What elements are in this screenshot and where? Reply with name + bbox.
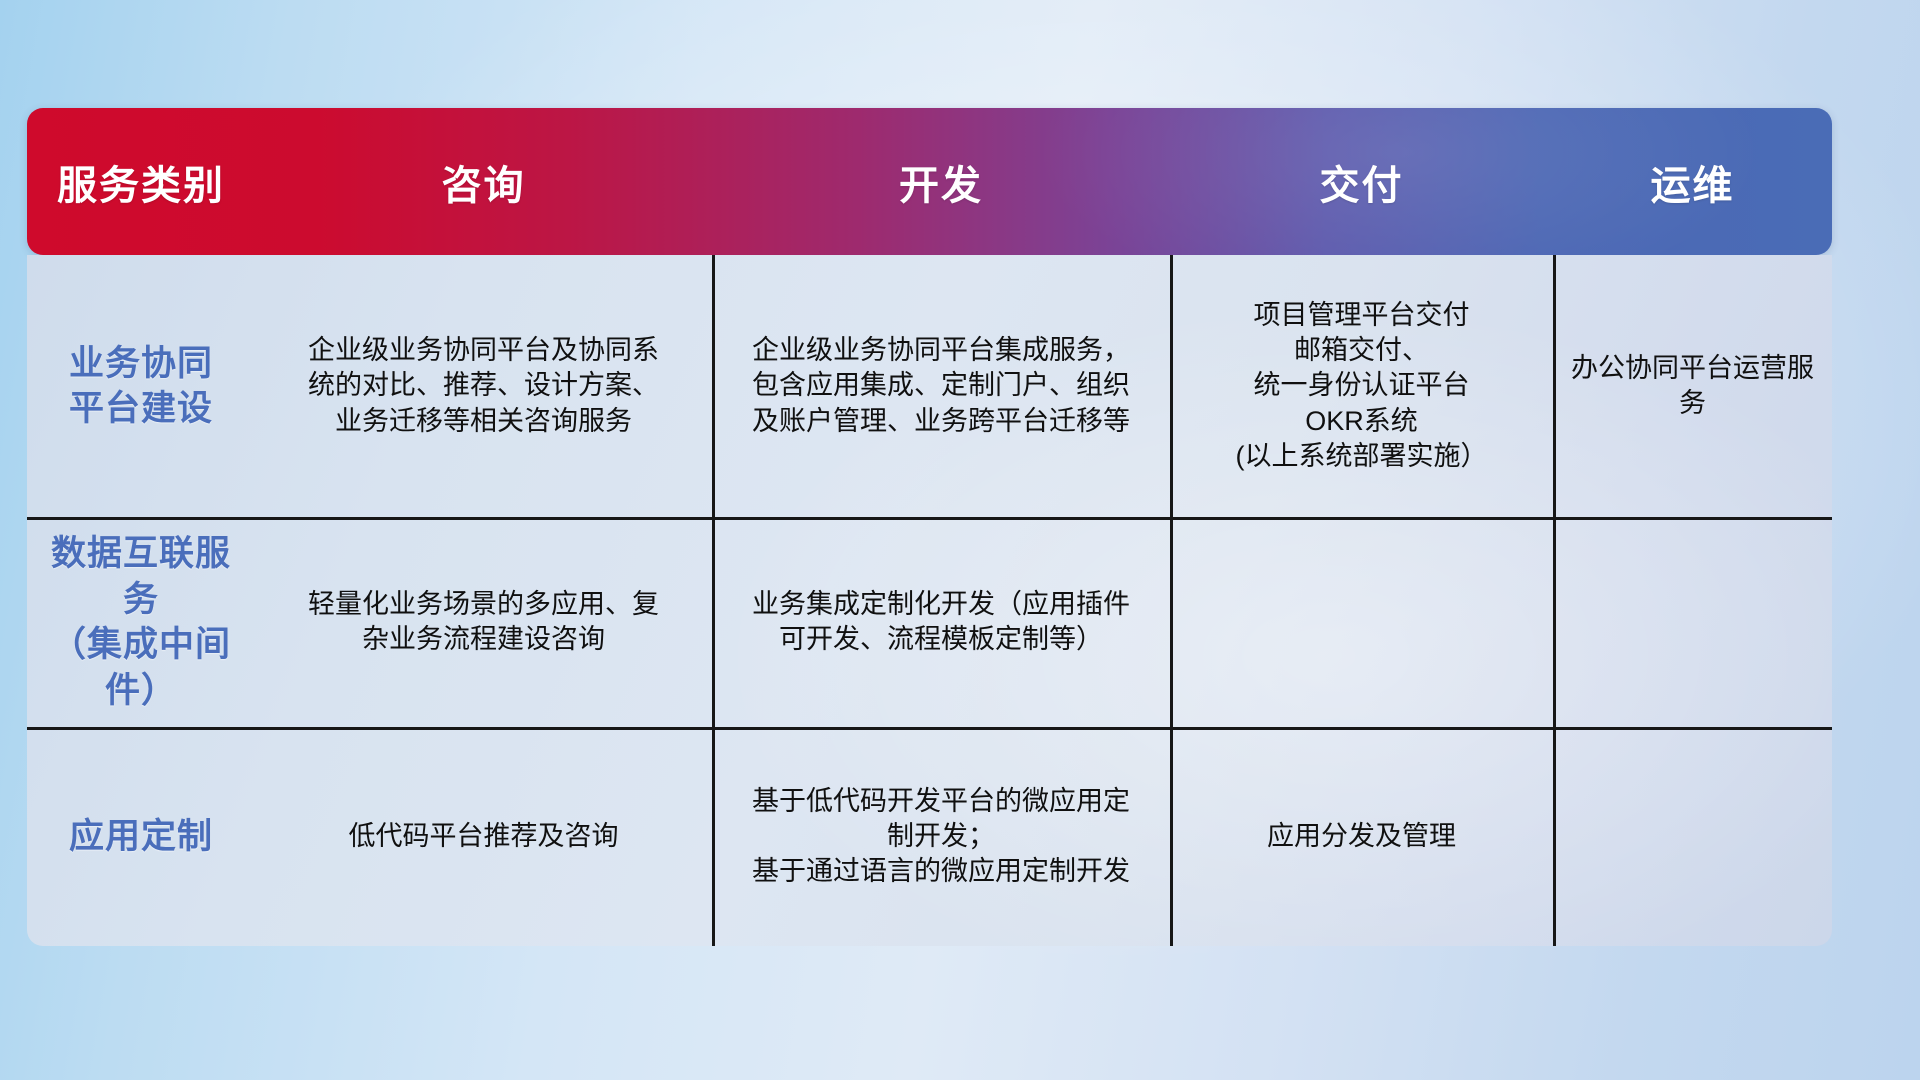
header-label-development: 开发	[899, 153, 983, 211]
row-operations-text: 办公协同平台运营服务	[1567, 351, 1818, 421]
row-delivery-text: 项目管理平台交付 邮箱交付、 统一身份认证平台 OKR系统 (以上系统部署实施）	[1236, 298, 1488, 473]
row-development-text: 企业级业务协同平台集成服务， 包含应用集成、定制门户、组织 及账户管理、业务跨平…	[752, 333, 1130, 438]
header-cell-consulting: 咨询	[255, 153, 712, 211]
row-delivery-cell: 项目管理平台交付 邮箱交付、 统一身份认证平台 OKR系统 (以上系统部署实施）	[1170, 255, 1553, 517]
row-operations-cell	[1553, 517, 1832, 727]
row-development-cell: 业务集成定制化开发（应用插件 可开发、流程模板定制等）	[712, 517, 1170, 727]
service-matrix-table: 服务类别 咨询 开发 交付 运维 业务协同 平台建设 企业级业务协同平台及协同系…	[27, 108, 1832, 946]
row-development-text: 业务集成定制化开发（应用插件 可开发、流程模板定制等）	[752, 587, 1130, 657]
header-label-service-category: 服务类别	[57, 153, 225, 211]
header-label-consulting: 咨询	[442, 153, 526, 211]
table-row: 业务协同 平台建设 企业级业务协同平台及协同系 统的对比、推荐、设计方案、 业务…	[27, 255, 1832, 517]
row-category-cell: 业务协同 平台建设	[27, 255, 255, 517]
row-consulting-text: 低代码平台推荐及咨询	[349, 819, 619, 854]
header-cell-delivery: 交付	[1170, 153, 1553, 211]
table-row: 数据互联服务 （集成中间件） 轻量化业务场景的多应用、复 杂业务流程建设咨询 业…	[27, 517, 1832, 727]
table-body: 业务协同 平台建设 企业级业务协同平台及协同系 统的对比、推荐、设计方案、 业务…	[27, 255, 1832, 946]
row-category-label: 数据互联服务 （集成中间件）	[41, 531, 241, 713]
row-operations-cell: 办公协同平台运营服务	[1553, 255, 1832, 517]
header-cell-service-category: 服务类别	[27, 153, 255, 211]
row-consulting-text: 企业级业务协同平台及协同系 统的对比、推荐、设计方案、 业务迁移等相关咨询服务	[308, 333, 659, 438]
row-development-cell: 企业级业务协同平台集成服务， 包含应用集成、定制门户、组织 及账户管理、业务跨平…	[712, 255, 1170, 517]
header-label-delivery: 交付	[1320, 153, 1404, 211]
row-development-text: 基于低代码开发平台的微应用定 制开发； 基于通过语言的微应用定制开发	[752, 784, 1130, 889]
row-category-label: 应用定制	[69, 814, 213, 860]
header-label-operations: 运维	[1651, 153, 1735, 211]
row-consulting-text: 轻量化业务场景的多应用、复 杂业务流程建设咨询	[308, 587, 659, 657]
header-cell-development: 开发	[712, 153, 1170, 211]
row-category-label: 业务协同 平台建设	[69, 341, 213, 432]
row-delivery-cell	[1170, 517, 1553, 727]
row-consulting-cell: 轻量化业务场景的多应用、复 杂业务流程建设咨询	[255, 517, 712, 727]
row-category-cell: 应用定制	[27, 727, 255, 946]
row-delivery-text: 应用分发及管理	[1267, 819, 1456, 854]
row-development-cell: 基于低代码开发平台的微应用定 制开发； 基于通过语言的微应用定制开发	[712, 727, 1170, 946]
row-operations-cell	[1553, 727, 1832, 946]
row-delivery-cell: 应用分发及管理	[1170, 727, 1553, 946]
header-cell-operations: 运维	[1553, 153, 1832, 211]
row-category-cell: 数据互联服务 （集成中间件）	[27, 517, 255, 727]
table-row: 应用定制 低代码平台推荐及咨询 基于低代码开发平台的微应用定 制开发； 基于通过…	[27, 727, 1832, 946]
row-consulting-cell: 企业级业务协同平台及协同系 统的对比、推荐、设计方案、 业务迁移等相关咨询服务	[255, 255, 712, 517]
row-consulting-cell: 低代码平台推荐及咨询	[255, 727, 712, 946]
table-header-row: 服务类别 咨询 开发 交付 运维	[27, 108, 1832, 255]
